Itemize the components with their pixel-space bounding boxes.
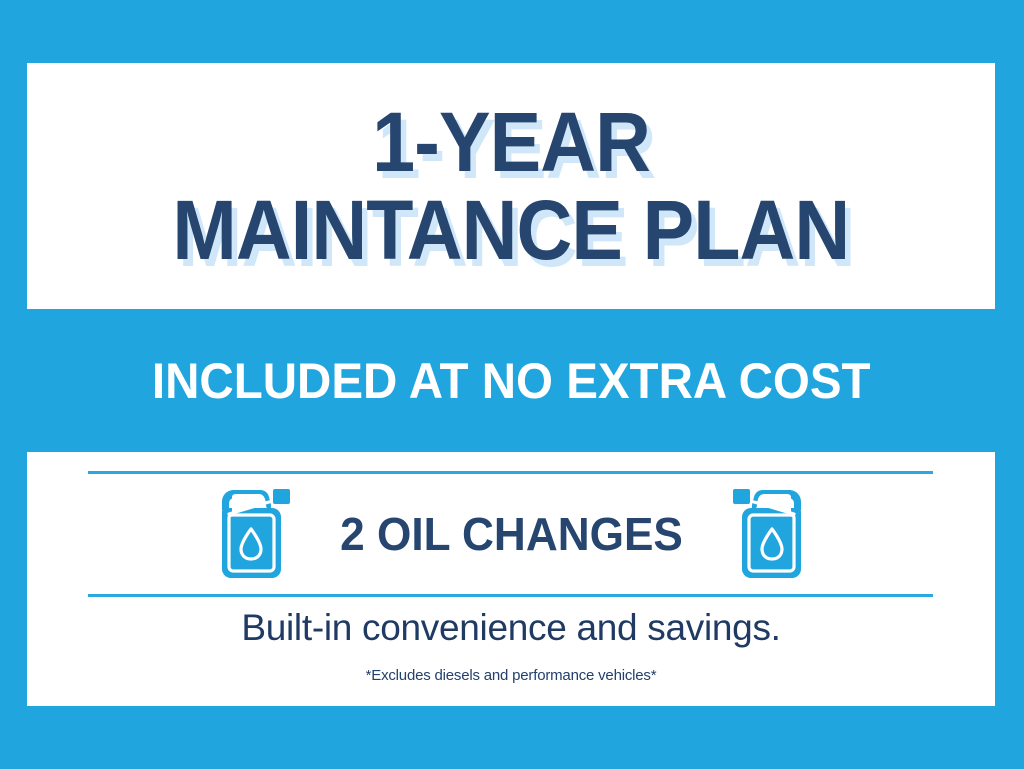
offer-card: 2 OIL CHANGES Built-in convenience and s…: [27, 452, 995, 706]
subtitle-band: INCLUDED AT NO EXTRA COST: [27, 309, 995, 452]
oil-jug-icon-left-wrapper: [219, 488, 291, 580]
oil-jug-icon-right-wrapper: [732, 488, 804, 580]
divider-top: [88, 471, 933, 474]
fineprint-text: *Excludes diesels and performance vehicl…: [27, 667, 995, 684]
offer-row: 2 OIL CHANGES: [27, 478, 995, 590]
offer-label: 2 OIL CHANGES: [340, 507, 683, 561]
headline-card: 1-YEAR MAINTANCE PLAN: [27, 63, 995, 309]
oil-jug-icon: [732, 488, 804, 580]
headline-line-2: MAINTANCE PLAN: [173, 189, 850, 271]
oil-jug-icon: [219, 488, 291, 580]
divider-bottom: [88, 594, 933, 597]
promo-poster: 1-YEAR MAINTANCE PLAN INCLUDED AT NO EXT…: [0, 0, 1024, 769]
subtitle-text: INCLUDED AT NO EXTRA COST: [152, 352, 871, 410]
tagline-text: Built-in convenience and savings.: [27, 607, 995, 649]
headline-line-1: 1-YEAR: [372, 101, 650, 183]
